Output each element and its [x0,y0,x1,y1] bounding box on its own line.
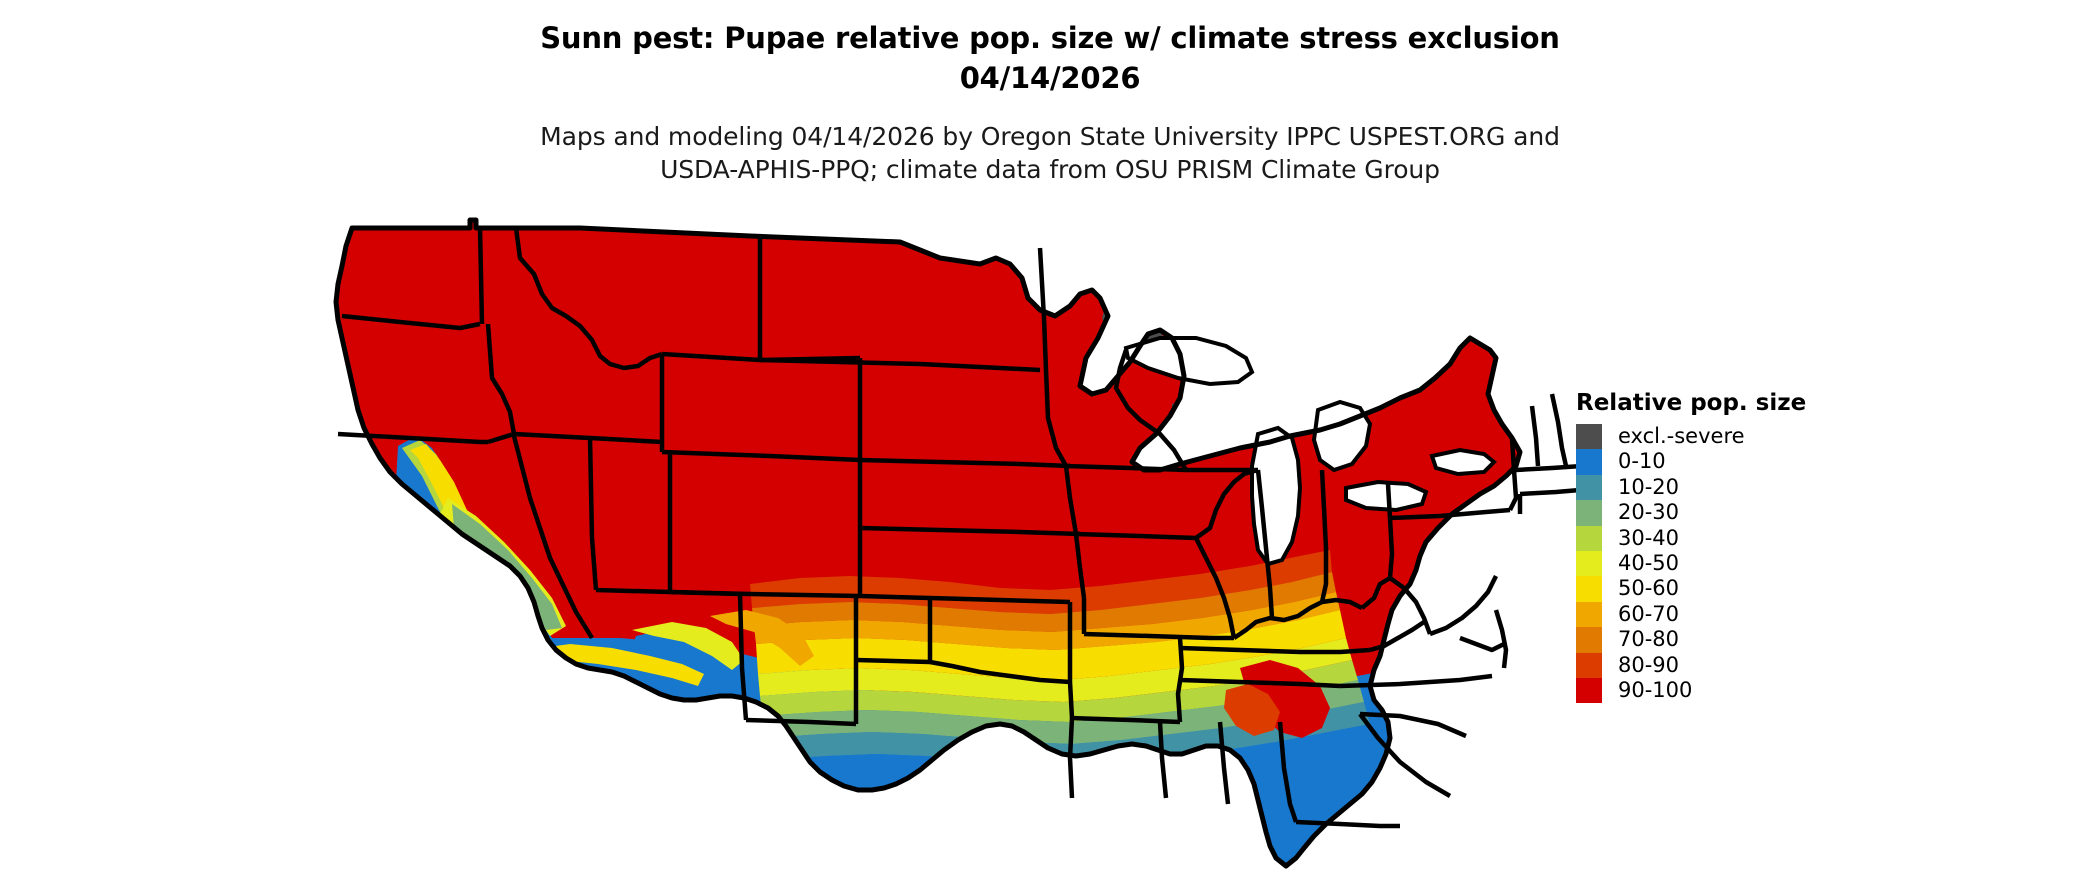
legend-item-label: 20-30 [1618,500,1679,525]
legend-color-swatch [1576,526,1602,551]
legend-item: 50-60 [1576,576,1872,601]
subtitle-attribution: Maps and modeling 04/14/2026 by Oregon S… [0,120,2100,186]
legend-item-label: 10-20 [1618,475,1679,500]
subtitle-line-2: USDA-APHIS-PPQ; climate data from OSU PR… [0,153,2100,186]
page-title: Sunn pest: Pupae relative pop. size w/ c… [0,18,2100,98]
legend-item: excl.-severe [1576,424,1872,449]
legend-item: 80-90 [1576,653,1872,678]
legend-item: 40-50 [1576,551,1872,576]
legend-item-label: 60-70 [1618,602,1679,627]
legend-color-swatch [1576,602,1602,627]
subtitle-line-1: Maps and modeling 04/14/2026 by Oregon S… [0,120,2100,153]
legend-item-label: 50-60 [1618,576,1679,601]
map-page: Sunn pest: Pupae relative pop. size w/ c… [0,0,2100,892]
south-texas-outline [840,788,912,868]
legend-item: 30-40 [1576,526,1872,551]
legend-items: excl.-severe0-1010-2020-3030-4040-5050-6… [1576,424,1872,703]
us-map-svg [280,198,1580,878]
legend-color-swatch [1576,500,1602,525]
legend-item-label: 80-90 [1618,653,1679,678]
legend-item-label: 90-100 [1618,678,1692,703]
class-90-100-south-texas [856,804,906,866]
legend-item-label: 30-40 [1618,526,1679,551]
choropleth-map [280,198,1580,878]
legend-color-swatch [1576,627,1602,652]
legend-color-swatch [1576,424,1602,449]
legend-color-swatch [1576,653,1602,678]
title-line-1: Sunn pest: Pupae relative pop. size w/ c… [0,18,2100,58]
legend-item: 20-30 [1576,500,1872,525]
legend-color-swatch [1576,475,1602,500]
lake-ontario [1432,450,1494,474]
class-50-60-south-florida [1422,828,1458,866]
map-legend: Relative pop. size excl.-severe0-1010-20… [1572,390,1872,703]
title-line-2: 04/14/2026 [0,58,2100,98]
legend-item-label: 70-80 [1618,627,1679,652]
legend-item-label: 0-10 [1618,449,1666,474]
legend-item: 0-10 [1576,449,1872,474]
legend-color-swatch [1576,576,1602,601]
legend-item: 60-70 [1576,602,1872,627]
legend-title: Relative pop. size [1576,390,1872,416]
legend-item-label: 40-50 [1618,551,1679,576]
legend-color-swatch [1576,678,1602,703]
legend-item-label: excl.-severe [1618,424,1745,449]
legend-item: 70-80 [1576,627,1872,652]
legend-color-swatch [1576,551,1602,576]
legend-item: 90-100 [1576,678,1872,703]
raster-classes [280,198,1580,878]
legend-item: 10-20 [1576,475,1872,500]
legend-color-swatch [1576,449,1602,474]
